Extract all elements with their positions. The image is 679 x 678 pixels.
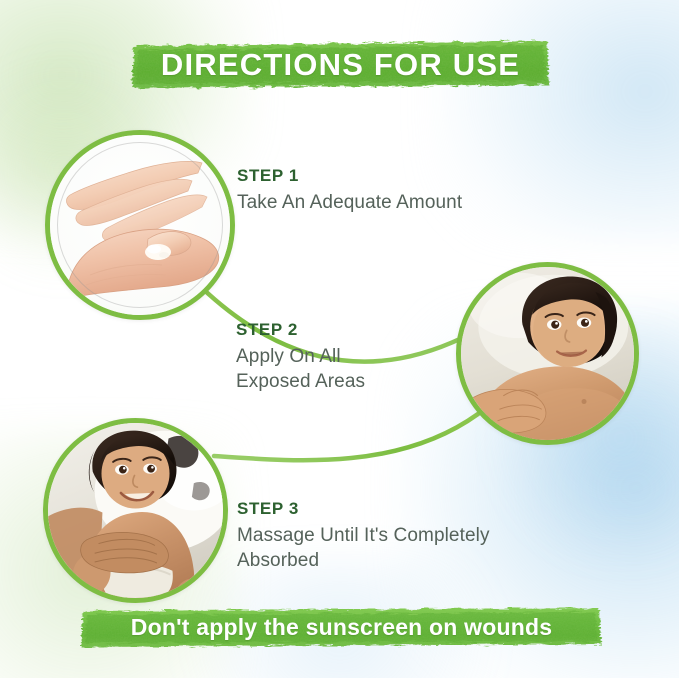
- step-2-description-line-2: Exposed Areas: [236, 369, 365, 394]
- hands-applying-cream-image: [50, 135, 230, 315]
- step-2-label: STEP 2: [236, 320, 365, 340]
- step-2-description-line-1: Apply On All: [236, 344, 365, 369]
- step-3-text-block: STEP 3 Massage Until It's Completely Abs…: [237, 499, 490, 573]
- step-3-label: STEP 3: [237, 499, 490, 519]
- step-1-description: Take An Adequate Amount: [237, 190, 462, 215]
- baby-lying-down-image: [461, 267, 634, 440]
- page-title: DIRECTIONS FOR USE: [161, 47, 520, 83]
- step-3-description-line-2: Absorbed: [237, 548, 490, 573]
- step-2-text-block: STEP 2 Apply On All Exposed Areas: [236, 320, 365, 394]
- title-banner: DIRECTIONS FOR USE: [128, 36, 553, 93]
- step-1-label: STEP 1: [237, 166, 462, 186]
- step-3-image-circle[interactable]: [43, 418, 228, 603]
- step-1-image-circle[interactable]: [45, 130, 235, 320]
- step-3-description-line-1: Massage Until It's Completely: [237, 523, 490, 548]
- warning-banner: Don't apply the sunscreen on wounds: [78, 604, 605, 650]
- step-1-text-block: STEP 1 Take An Adequate Amount: [237, 166, 462, 215]
- step-2-image-circle[interactable]: [456, 262, 639, 445]
- baby-sitting-image: [48, 423, 223, 598]
- directions-for-use-infographic: DIRECTIONS FOR USE: [0, 0, 679, 678]
- warning-text: Don't apply the sunscreen on wounds: [131, 614, 552, 641]
